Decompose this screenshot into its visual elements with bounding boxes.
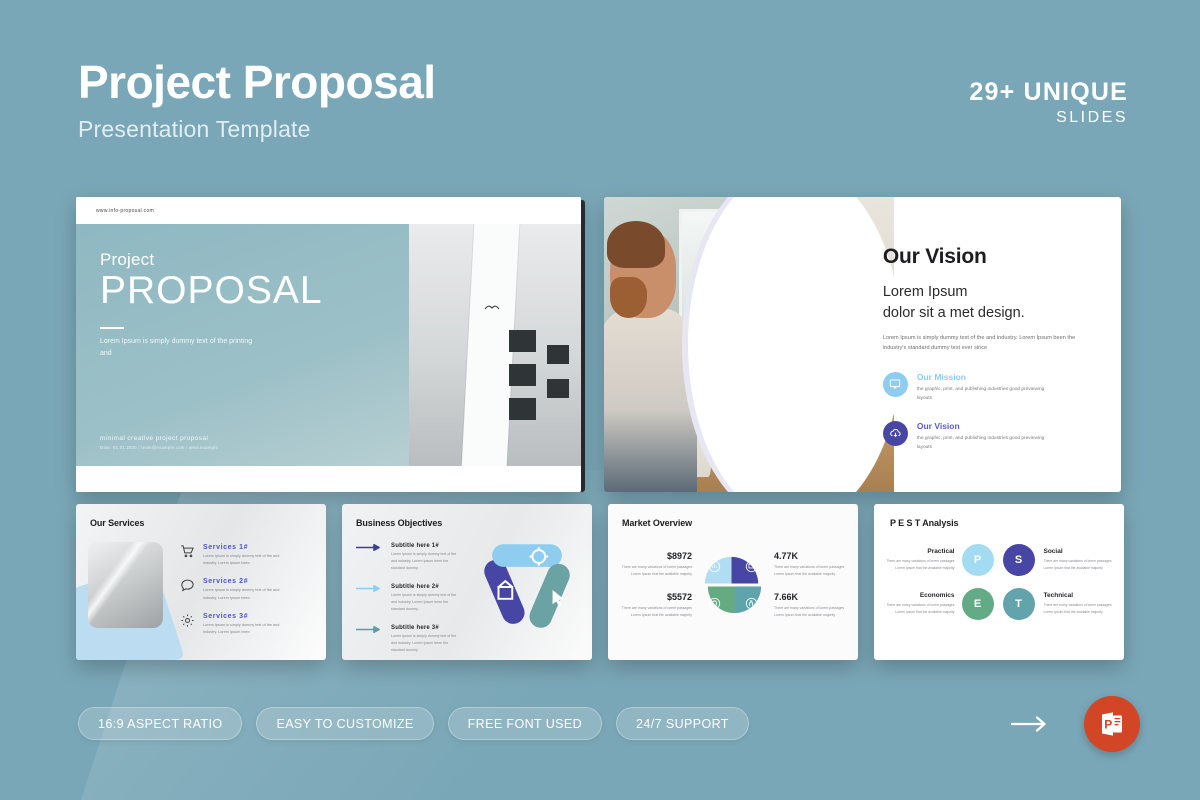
vision-row-mission[interactable]: Our Mission the graphic, print, and publ… xyxy=(883,372,1097,403)
pill-support[interactable]: 24/7 SUPPORT xyxy=(616,707,749,740)
powerpoint-logo-icon[interactable]: P xyxy=(1084,696,1140,752)
page-subtitle: Presentation Template xyxy=(78,116,436,143)
pest-circle-t[interactable]: T xyxy=(1003,588,1035,620)
market-title: Market Overview xyxy=(622,518,858,528)
stat-desc: There are many variations of lorem passa… xyxy=(774,605,850,619)
list-item[interactable]: Services 3# Lorem Ipsum is simply dummy … xyxy=(180,613,291,636)
services-content: Our Services Services 1# Lorem Ipsum is … xyxy=(76,504,326,660)
slide-preview-services[interactable]: Our Services Services 1# Lorem Ipsum is … xyxy=(76,504,326,660)
stat-cell: $5572 There are many variations of lorem… xyxy=(616,592,692,619)
pest-label: Social xyxy=(1044,548,1115,555)
feature-pills: 16:9 ASPECT RATIO EASY TO CUSTOMIZE FREE… xyxy=(78,707,749,740)
stat-value: $5572 xyxy=(616,592,692,602)
slide-title-footer-meta: Date: 01.01.2020 / team@example.com / ww… xyxy=(100,445,218,450)
vision-heading: Our Vision xyxy=(883,245,1097,269)
service-name: Services 2# xyxy=(203,578,291,585)
divider-rule xyxy=(100,327,124,329)
pest-cell: Social There are many variations of lore… xyxy=(1044,548,1115,572)
slide-count-label: SLIDES xyxy=(969,109,1128,127)
services-title: Our Services xyxy=(90,518,326,528)
stat-value: $8972 xyxy=(616,551,692,561)
slide-title-footer-title: minimal creative project proposal xyxy=(100,435,218,442)
list-item[interactable]: Services 1# Lorem Ipsum is simply dummy … xyxy=(180,544,291,567)
objective-name: Subtitle here 2# xyxy=(391,584,463,590)
chat-icon xyxy=(180,578,195,593)
service-name: Services 3# xyxy=(203,613,291,620)
stat-cell: $8972 There are many variations of lorem… xyxy=(616,551,692,578)
pest-cell: Economics There are many variations of l… xyxy=(884,592,955,616)
pest-label: Economics xyxy=(884,592,955,599)
service-name: Services 1# xyxy=(203,544,291,551)
monitor-icon xyxy=(883,372,908,397)
arrow-right-icon xyxy=(356,626,382,633)
slide-title-footer: minimal creative project proposal Date: … xyxy=(100,435,218,450)
pest-grid: Practical There are many variations of l… xyxy=(884,544,1114,620)
slide-title-textpane: Project PROPOSAL Lorem Ipsum is simply d… xyxy=(76,224,409,466)
pest-title: P E S T Analysis xyxy=(890,518,1124,528)
slide-preview-pest[interactable]: P E S T Analysis Practical There are man… xyxy=(874,504,1124,660)
seagull-icon xyxy=(485,304,499,311)
pest-desc: There are many variations of lorem passa… xyxy=(1044,558,1115,572)
stat-value: 4.77K xyxy=(774,551,850,561)
pest-circle-s[interactable]: S xyxy=(1003,544,1035,576)
stat-desc: There are many variations of lorem passa… xyxy=(616,605,692,619)
objective-desc: Lorem Ipsum is simply dummy text of the … xyxy=(391,633,463,654)
vision-row-vision[interactable]: Our Vision the graphic, print, and publi… xyxy=(883,421,1097,452)
gear-icon xyxy=(180,613,195,628)
objective-name: Subtitle here 3# xyxy=(391,625,463,631)
pest-circle-e[interactable]: E xyxy=(962,588,994,620)
pest-cell: Practical There are many variations of l… xyxy=(884,548,955,572)
vision-photo xyxy=(604,197,894,492)
pest-label: Technical xyxy=(1044,592,1115,599)
pill-free-font[interactable]: FREE FONT USED xyxy=(448,707,602,740)
list-item[interactable]: Services 2# Lorem Ipsum is simply dummy … xyxy=(180,578,291,601)
slide-title-photo xyxy=(409,224,581,466)
person-hair xyxy=(607,221,665,268)
service-desc: Lorem Ipsum is simply dummy text of the … xyxy=(203,587,291,601)
objective-desc: Lorem Ipsum is simply dummy text of the … xyxy=(391,592,463,613)
slide-url-bar: www.info-proposal.com xyxy=(76,197,581,224)
arrow-right-icon xyxy=(356,585,382,592)
pest-desc: There are many variations of lorem passa… xyxy=(884,558,955,572)
slide-title-eyebrow: Project xyxy=(100,250,409,270)
slide-preview-market[interactable]: Market Overview $8972 There are many var… xyxy=(608,504,858,660)
slide-preview-title[interactable]: www.info-proposal.com Project PROPOSAL L… xyxy=(76,197,581,492)
objective-name: Subtitle here 1# xyxy=(391,543,463,549)
page-title: Project Proposal xyxy=(78,58,436,106)
slide-preview-objectives[interactable]: Business Objectives Subtitle here 1# Lor… xyxy=(342,504,592,660)
slide-title-heading: PROPOSAL xyxy=(100,271,409,312)
architecture-photo xyxy=(409,224,581,466)
cycle-triangle-diagram xyxy=(468,528,586,646)
market-content: Market Overview $8972 There are many var… xyxy=(608,504,858,660)
slide-url-text: www.info-proposal.com xyxy=(96,208,154,214)
pest-circle-p[interactable]: P xyxy=(962,544,994,576)
objectives-title: Business Objectives xyxy=(356,518,592,528)
pill-easy-customize[interactable]: EASY TO CUSTOMIZE xyxy=(256,707,433,740)
vision-subheading: Lorem Ipsum dolor sit a met design. xyxy=(883,282,1097,324)
objectives-content: Business Objectives Subtitle here 1# Lor… xyxy=(342,504,592,660)
slide-title-lorem: Lorem Ipsum is simply dummy text of the … xyxy=(100,336,260,361)
vision-row-desc: the graphic, print, and publishing indus… xyxy=(917,434,1047,452)
vision-textpane: Our Vision Lorem Ipsum dolor sit a met d… xyxy=(873,197,1121,492)
pest-content: P E S T Analysis Practical There are man… xyxy=(874,504,1124,660)
arrow-right-icon xyxy=(356,544,382,551)
vision-paragraph: Lorem Ipsum is simply dummy text of the … xyxy=(883,333,1088,354)
person-beard xyxy=(610,277,648,318)
circle-mask xyxy=(688,197,894,492)
slide-preview-vision[interactable]: Our Vision Lorem Ipsum dolor sit a met d… xyxy=(604,197,1121,492)
stat-cell: 7.66K There are many variations of lorem… xyxy=(774,592,850,619)
slide-title-footer-bar xyxy=(76,466,581,492)
cloud-download-icon xyxy=(883,421,908,446)
services-list: Services 1# Lorem Ipsum is simply dummy … xyxy=(180,544,291,647)
vision-row-desc: the graphic, print, and publishing indus… xyxy=(917,385,1047,403)
vision-row-title: Our Mission xyxy=(917,372,1047,382)
pest-cell: Technical There are many variations of l… xyxy=(1044,592,1115,616)
services-photo xyxy=(88,542,163,628)
cart-icon xyxy=(180,544,195,559)
stat-value: 7.66K xyxy=(774,592,850,602)
pest-desc: There are many variations of lorem passa… xyxy=(1044,602,1115,616)
person-body xyxy=(604,309,697,492)
svg-text:P: P xyxy=(1104,718,1112,732)
objective-desc: Lorem Ipsum is simply dummy text of the … xyxy=(391,551,463,572)
vision-row-title: Our Vision xyxy=(917,421,1047,431)
stat-desc: There are many variations of lorem passa… xyxy=(616,564,692,578)
slide-title-body: Project PROPOSAL Lorem Ipsum is simply d… xyxy=(76,224,581,466)
arrow-right-icon xyxy=(1010,712,1050,736)
slide-count-value: 29+ UNIQUE xyxy=(969,78,1128,107)
slide-count-badge: 29+ UNIQUE SLIDES xyxy=(969,78,1128,127)
service-desc: Lorem Ipsum is simply dummy text of the … xyxy=(203,622,291,636)
powerpoint-glyph: P xyxy=(1096,708,1128,740)
pinwheel-graphic xyxy=(696,548,770,622)
market-stats-grid: $8972 There are many variations of lorem… xyxy=(616,548,850,622)
stat-cell: 4.77K There are many variations of lorem… xyxy=(774,551,850,578)
pest-label: Practical xyxy=(884,548,955,555)
stat-desc: There are many variations of lorem passa… xyxy=(774,564,850,578)
poster-canvas: Project Proposal Presentation Template 2… xyxy=(0,0,1200,800)
header: Project Proposal Presentation Template xyxy=(78,58,436,143)
pill-aspect-ratio[interactable]: 16:9 ASPECT RATIO xyxy=(78,707,242,740)
service-desc: Lorem Ipsum is simply dummy text of the … xyxy=(203,553,291,567)
pest-desc: There are many variations of lorem passa… xyxy=(884,602,955,616)
